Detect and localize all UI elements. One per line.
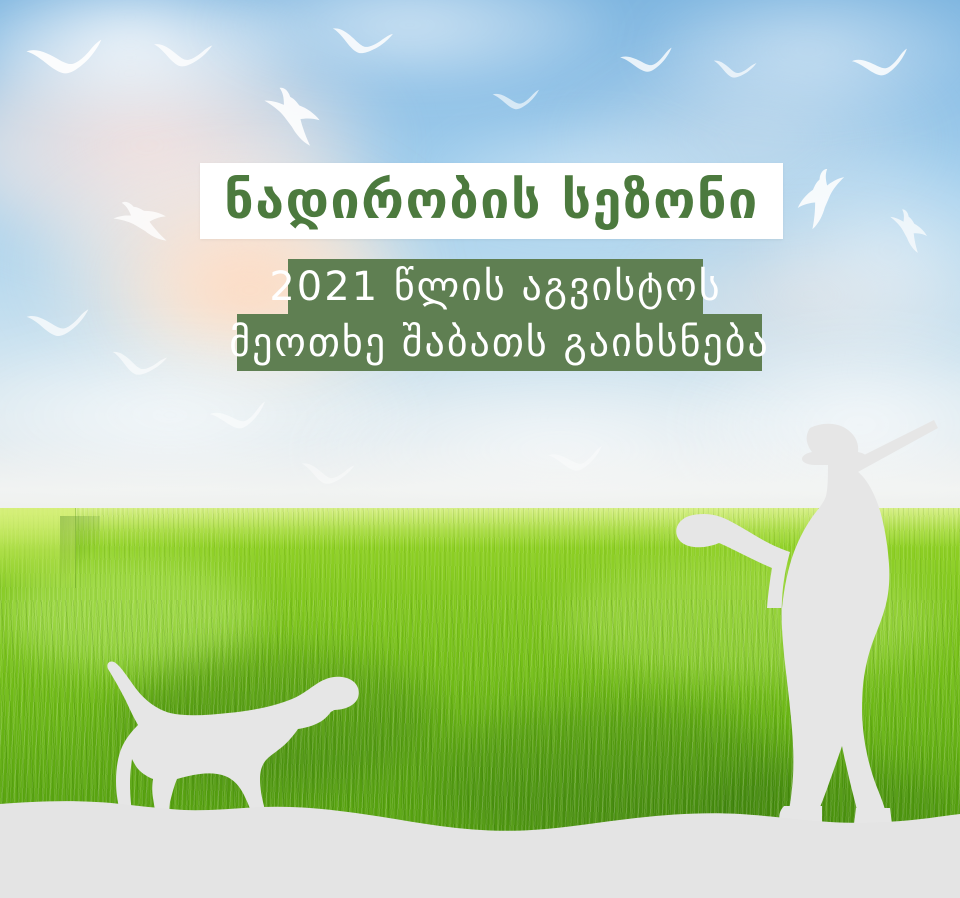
foreground-ground — [0, 768, 960, 898]
subtitle-line1: 2021 წლის აგვისტოს — [269, 267, 721, 307]
page-title: ნადირობის სეზონი — [224, 175, 759, 227]
subtitle-line2: მეოთხე შაბათს გაიხსნება — [229, 323, 770, 363]
title-banner: ნადირობის სეზონი — [200, 163, 783, 239]
subtitle-banner-line2: მეოთხე შაბათს გაიხსნება — [237, 314, 762, 371]
subtitle-banner-line1: 2021 წლის აგვისტოს — [288, 259, 703, 314]
poster-canvas: ნადირობის სეზონი 2021 წლის აგვისტოს მეოთ… — [0, 0, 960, 898]
field-seam-shadow — [60, 516, 100, 586]
